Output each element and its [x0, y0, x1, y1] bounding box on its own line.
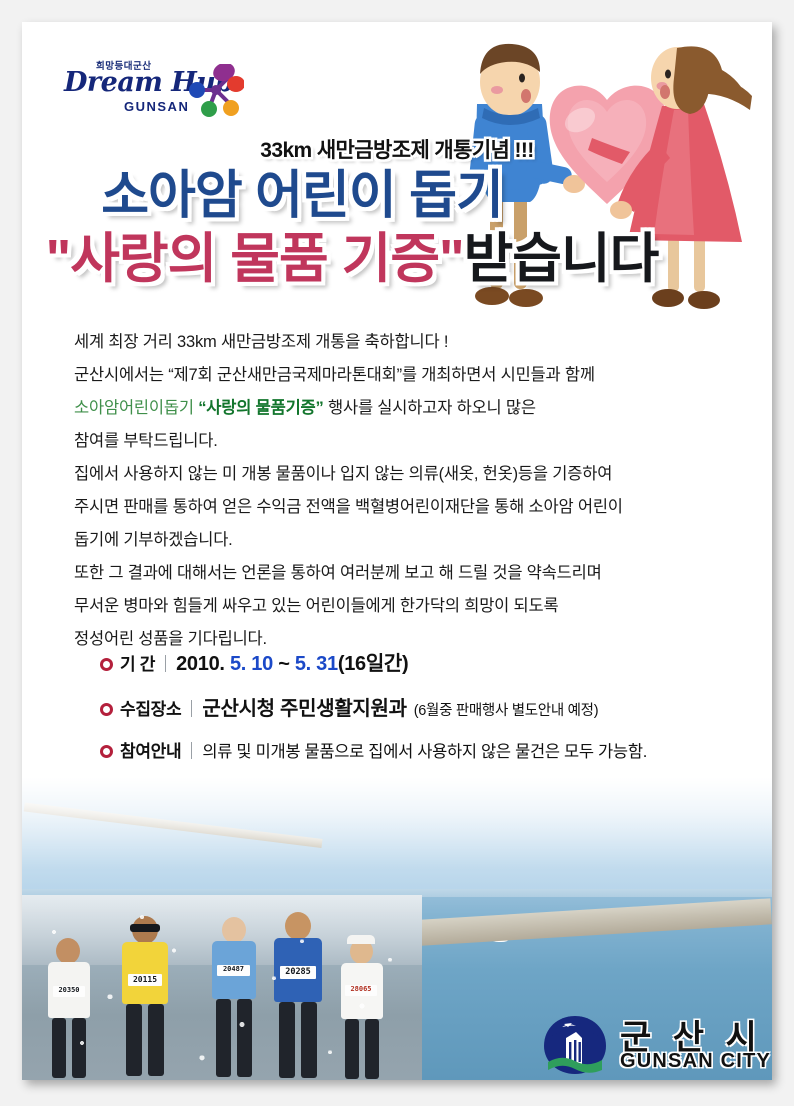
runner: 20285	[266, 908, 332, 1080]
node-cluster-icon	[186, 64, 244, 120]
dream-hub-subtitle: GUNSAN	[124, 99, 189, 114]
runner-leg	[301, 1002, 317, 1078]
runner-leg	[216, 999, 231, 1077]
body-copy: 세계 최장 거리 33km 새만금방조제 개통을 축하합니다 ! 군산시에서는 …	[74, 327, 734, 657]
runner-bib: 20487	[217, 965, 250, 976]
runner-leg	[148, 1004, 164, 1076]
body-line-7: 돕기에 기부하겠습니다.	[74, 525, 734, 556]
runner: 20350	[40, 930, 100, 1080]
runner-head	[56, 938, 80, 964]
dream-hub-logo: 희망등대군산 Dream Hub GUNSAN	[64, 58, 254, 120]
body-green-light: 소아암어린이돕기	[74, 399, 194, 417]
headline-line-1: 소아암 어린이 돕기	[22, 170, 582, 222]
runner-head	[222, 917, 246, 943]
period-duration: (16일간)	[338, 653, 409, 675]
runner: 20487	[204, 915, 266, 1080]
runner-torso	[122, 942, 168, 1004]
body-line-9: 무서운 병마와 힘들게 싸우고 있는 어린이들에게 한가닥의 희망이 되도록	[74, 591, 734, 622]
body-line-1: 세계 최장 거리 33km 새만금방조제 개통을 축하합니다 !	[74, 327, 734, 358]
headline-line-2: "사랑의 물품 기증"받습니다	[22, 232, 682, 286]
body-line-3-tail: 행사를 실시하고자 하오니 많은	[324, 399, 536, 417]
body-line-8: 또한 그 결과에 대해서는 언론을 통하여 여러분께 보고 해 드릴 것을 약속…	[74, 558, 734, 589]
body-green-bold: “사랑의 물품기증”	[198, 399, 323, 417]
runner-leg	[72, 1018, 86, 1078]
runner-leg	[126, 1004, 142, 1076]
divider	[191, 700, 192, 717]
runner-bib: 20285	[280, 966, 316, 979]
body-line-6: 주시면 판매를 통하여 얻은 수익금 전액을 백혈병어린이재단을 통해 소아암 …	[74, 492, 734, 523]
info-label-period: 기 간	[120, 650, 155, 675]
info-row-place: 수집장소 군산시청 주민생활지원과 (6월중 판매행사 별도안내 예정)	[100, 692, 740, 721]
runner: 20115	[114, 910, 178, 1080]
poster-canvas: 희망등대군산 Dream Hub GUNSAN	[22, 22, 772, 1080]
runner-cap	[347, 935, 375, 944]
body-line-4: 참여를 부탁드립니다.	[74, 426, 734, 457]
runner-head	[285, 912, 311, 940]
info-value-place: 군산시청 주민생활지원과	[202, 692, 406, 721]
divider	[191, 742, 192, 759]
info-label-guide: 참여안내	[120, 737, 181, 762]
info-note-place: (6월중 판매행사 별도안내 예정)	[414, 699, 599, 720]
info-label-place: 수집장소	[120, 695, 181, 720]
runner-sunglasses	[130, 924, 160, 932]
runner-bib: 20115	[128, 974, 162, 986]
runner-leg	[279, 1002, 295, 1078]
bullet-ring-icon	[100, 745, 113, 758]
runner: 28065	[334, 925, 392, 1080]
headline-quote: "사랑의 물품 기증"	[46, 229, 464, 289]
info-row-guide: 참여안내 의류 및 미개봉 물품으로 집에서 사용하지 않은 물건은 모두 가능…	[100, 737, 740, 762]
period-end: 5. 31	[295, 653, 338, 675]
body-line-2: 군산시에서는 “제7회 군산새만금국제마라톤대회”를 개최하면서 시민들과 함께	[74, 360, 734, 391]
body-line-3: 소아암어린이돕기 “사랑의 물품기증” 행사를 실시하고자 하오니 많은	[74, 393, 734, 424]
info-row-period: 기 간 2010. 5. 10 ~ 5. 31(16일간)	[100, 647, 740, 676]
divider	[165, 655, 166, 672]
runner-bib: 20350	[53, 986, 85, 997]
gunsan-city-emblem-icon	[542, 1014, 608, 1076]
marathon-runners-group: 20350 20115 20487	[22, 895, 422, 1080]
runner-leg	[365, 1019, 379, 1079]
body-line-5: 집에서 사용하지 않는 미 개봉 물품이나 입지 않는 의류(새옷, 헌옷)등을…	[74, 459, 734, 490]
period-start: 5. 10	[230, 653, 273, 675]
runner-leg	[52, 1018, 66, 1078]
runner-leg	[237, 999, 252, 1077]
headline-tail: 받습니다	[464, 229, 659, 289]
info-value-guide: 의류 및 미개봉 물품으로 집에서 사용하지 않은 물건은 모두 가능함.	[202, 738, 647, 762]
period-tilde: ~	[278, 653, 289, 675]
bullet-ring-icon	[100, 658, 113, 671]
period-year: 2010.	[176, 653, 225, 675]
headline-kicker: 33km 새만금방조제 개통기념 !!!	[22, 134, 772, 164]
runner-leg	[345, 1019, 359, 1079]
runner-bib: 28065	[345, 985, 377, 996]
gunsan-city-logo: 군 산 시 GUNSAN CITY	[542, 1012, 772, 1080]
info-value-period: 2010. 5. 10 ~ 5. 31(16일간)	[176, 647, 408, 676]
bullet-ring-icon	[100, 703, 113, 716]
gunsan-city-english: GUNSAN CITY	[620, 1050, 771, 1073]
